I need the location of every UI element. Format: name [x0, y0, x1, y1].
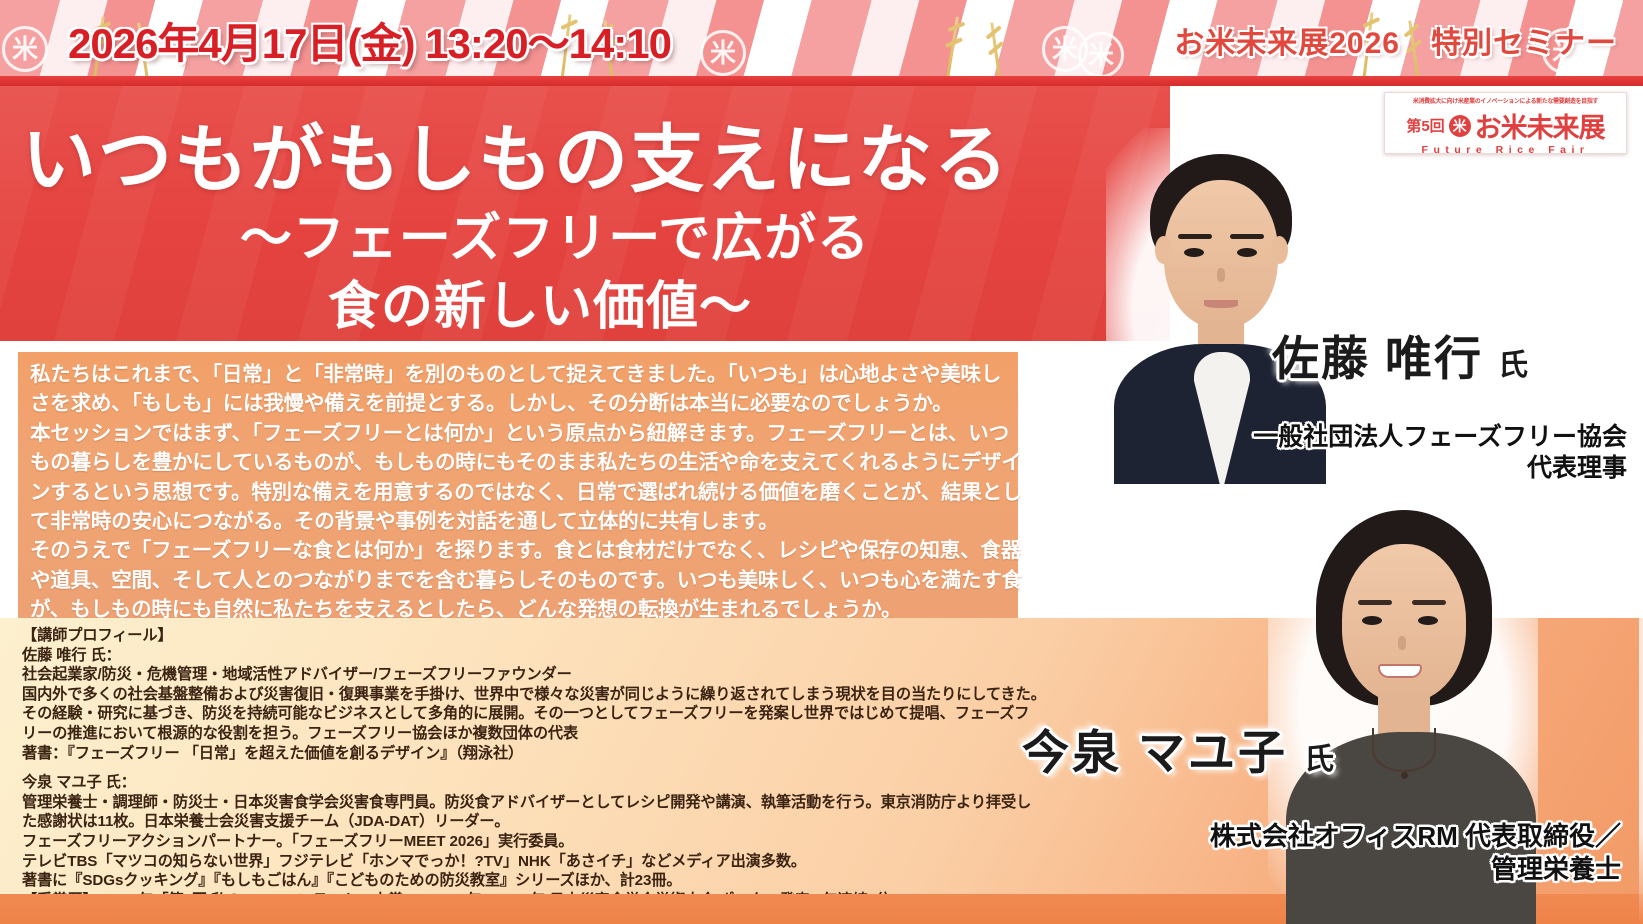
- pendant-shape: [1401, 772, 1408, 779]
- description-line: 本セッションではまず、「フェーズフリーとは何か」という原点から紐解きます。フェー…: [30, 419, 1008, 448]
- eyebrow-shape: [1230, 234, 1264, 239]
- profile-line-s2: た感謝状は11枚。日本栄養士会災害支援チーム（JDA-DAT）リーダー。: [22, 812, 1002, 832]
- profile-heading: 【講師プロフィール】: [22, 626, 1002, 646]
- speaker-1-affiliation-line2: 代表理事: [1253, 453, 1627, 484]
- speaker-1-name-tag: 佐藤 唯行 氏: [1272, 320, 1530, 389]
- logo-tagline: 米消費拡大に向け米産業のイノベーションによる新たな需要創造を目指す: [1389, 96, 1623, 105]
- logo-edition: 第5回: [1406, 115, 1444, 136]
- eye-shape: [1184, 248, 1204, 257]
- header-band: 米 米 米 米 米 米 2026年4月17日(金) 13:20〜14:10 お米…: [0, 0, 1643, 86]
- speaker-2-name-suffix: 氏: [1304, 743, 1337, 776]
- speaker-2-affiliation-line2: 管理栄養士: [1210, 853, 1621, 886]
- eyebrow-shape: [1178, 234, 1212, 239]
- vertical-divider: [1639, 300, 1643, 924]
- nose-shape: [1217, 268, 1225, 282]
- speaker-2-affiliation: 株式会社オフィスRM 代表取締役／ 管理栄養士: [1210, 820, 1621, 886]
- logo-main-row: 第5回 米 お米未来展: [1385, 106, 1626, 145]
- seminar-banner: 米 米 米 米 米 米 2026年4月17日(金) 13:20〜14:10 お米…: [0, 0, 1643, 924]
- eyebrow-shape: [1358, 600, 1392, 605]
- profile-line-s2: テレビTBS「マツコの知らない世界」フジテレビ「ホンマでっか！?TV」NHK「あ…: [22, 852, 1002, 872]
- profile-text-block: 【講師プロフィール】 佐藤 唯行 氏： 社会起業家/防災・危機管理・地域活性アド…: [22, 626, 1002, 910]
- description-line: もの暮らしを豊かにしているものが、もしもの時にもそのまま私たちの生活や命を支えて…: [30, 448, 1008, 477]
- profile-line-s1: 国内外で多くの社会基盤整備および災害復旧・復興事業を手掛け、世界中で様々な災害が…: [22, 685, 1002, 705]
- description-panel: 私たちはこれまで、「日常」と「非常時」を別のものとして捉えてきました。「いつも」…: [18, 352, 1018, 618]
- rice-mark-icon: 米: [1078, 32, 1124, 78]
- nose-shape: [1398, 636, 1406, 650]
- smiling-mouth-shape: [1378, 664, 1422, 678]
- rice-mark-icon: 米: [2, 26, 48, 72]
- speaker-2-affiliation-line1: 株式会社オフィスRM 代表取締役／: [1210, 820, 1621, 853]
- profile-line-s2: 今泉 マユ子 氏：: [22, 773, 1002, 793]
- rice-mark-icon: 米: [1449, 115, 1471, 137]
- speaker-1-name: 佐藤 唯行: [1272, 332, 1483, 385]
- seminar-subtitle-line1: 〜フェーズフリーで広がる: [0, 196, 1170, 271]
- profile-line-s1: 社会起業家/防災・危機管理・地域活性アドバイザー/フェーズフリーファウンダー: [22, 665, 1002, 685]
- description-line: さを求め、「もしも」には我慢や備えを前提とする。しかし、その分断は本当に必要なの…: [30, 389, 1008, 418]
- title-panel: いつもがもしもの支えになる 〜フェーズフリーで広がる 食の新しい価値〜: [0, 86, 1170, 341]
- ear-shape: [1271, 236, 1288, 264]
- eye-shape: [1237, 248, 1257, 257]
- seminar-subtitle-line2: 食の新しい価値〜: [0, 264, 1170, 339]
- necklace-shape: [1372, 728, 1436, 772]
- description-line: て非常時の安心につながる。その背景や事例を対話を通して立体的に共有します。: [30, 507, 1008, 536]
- eyebrow-shape: [1412, 600, 1446, 605]
- rice-ear-decoration: [990, 22, 1003, 86]
- rice-mark-icon: 米: [700, 30, 746, 76]
- description-line: 私たちはこれまで、「日常」と「非常時」を別のものとして捉えてきました。「いつも」…: [30, 360, 1008, 389]
- event-logo: 米消費拡大に向け米産業のイノベーションによる新たな需要創造を目指す 第5回 米 …: [1384, 92, 1627, 154]
- profile-line-s1: リーの推進において根源的な役割を担う。フェーズフリー協会ほか複数団体の代表: [22, 724, 1002, 744]
- rice-ear-decoration: [945, 17, 959, 86]
- ear-shape: [1155, 236, 1172, 264]
- speaker-2-name-tag: 今泉 マユ子 氏: [1022, 714, 1337, 783]
- mouth-shape: [1204, 300, 1238, 308]
- seminar-title: いつもがもしもの支えになる: [22, 100, 1010, 207]
- speaker-1-name-suffix: 氏: [1498, 349, 1530, 382]
- profile-line-s2: フェーズフリーアクションパートナー。「フェーズフリーMEET 2026」実行委員…: [22, 832, 1002, 852]
- event-name: お米未来展2026 特別セミナー: [1174, 18, 1617, 62]
- eye-shape: [1418, 616, 1438, 625]
- logo-english-name: Future Rice Fair: [1385, 144, 1626, 154]
- speaker-1-affiliation: 一般社団法人フェーズフリー協会 代表理事: [1253, 422, 1627, 484]
- profile-line-s1: その経験・研究に基づき、防災を持続可能なビジネスとして多角的に展開。その一つとし…: [22, 704, 1002, 724]
- speaker-2-name: 今泉 マユ子: [1022, 726, 1288, 779]
- description-line: ンするという思想です。特別な備えを用意するのではなく、日常で選ばれ続ける価値を磨…: [30, 478, 1008, 507]
- profile-line-s1: 佐藤 唯行 氏：: [22, 646, 1002, 666]
- description-line: そのうえで「フェーズフリーな食とは何か」を探ります。食とは食材だけでなく、レシピ…: [30, 536, 1008, 565]
- profile-line-s1: 著書：『フェーズフリー 「日常」を超えた価値を創るデザイン』（翔泳社）: [22, 744, 1002, 764]
- eye-shape: [1362, 616, 1382, 625]
- profile-line-s2: 管理栄養士・調理師・防災士・日本災害食学会災害食専門員。防災食アドバイザーとして…: [22, 793, 1002, 813]
- speaker-1-affiliation-line1: 一般社団法人フェーズフリー協会: [1253, 422, 1627, 453]
- face-shape: [1342, 544, 1466, 702]
- seminar-datetime: 2026年4月17日(金) 13:20〜14:10: [68, 10, 671, 71]
- profile-line-s2: 著書に『SDGsクッキング』『もしもごはん』『こどものための防災教室』シリーズほ…: [22, 871, 1002, 891]
- logo-name: お米未来展: [1475, 106, 1605, 145]
- description-line: や道具、空間、そして人とのつながりまでを含む暮らしそのものです。いつも美味しく、…: [30, 566, 1008, 595]
- profile-spacer: [22, 763, 1002, 773]
